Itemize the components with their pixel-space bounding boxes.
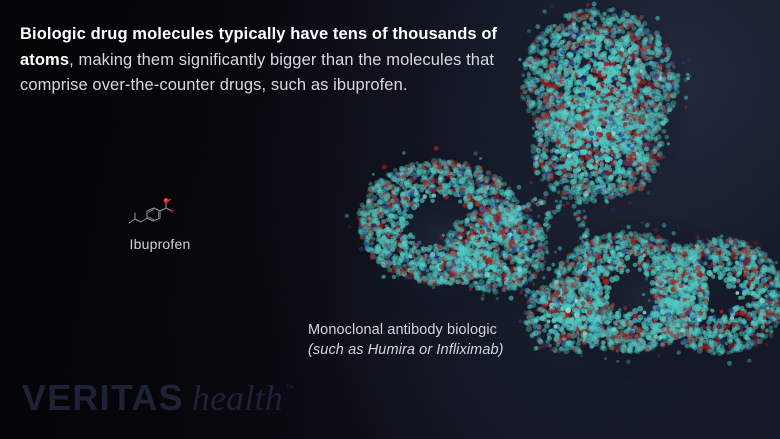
veritas-health-logo: VERITAS health ™	[22, 377, 294, 419]
infographic-canvas: Biologic drug molecules typically have t…	[0, 0, 780, 439]
logo-wordmark-health: health	[192, 377, 283, 419]
ibuprofen-skeletal-structure-icon	[125, 192, 195, 232]
oxygen-atom	[171, 210, 174, 213]
ibuprofen-graphic: Ibuprofen	[112, 192, 208, 252]
logo-trademark-icon: ™	[285, 383, 294, 393]
ibuprofen-label: Ibuprofen	[112, 236, 208, 252]
caption-line-1: Monoclonal antibody biologic	[308, 321, 504, 341]
logo-wordmark-veritas: VERITAS	[22, 377, 184, 419]
caption-line-2: (such as Humira or Infliximab)	[308, 341, 504, 361]
antibody-caption: Monoclonal antibody biologic (such as Hu…	[308, 321, 504, 360]
